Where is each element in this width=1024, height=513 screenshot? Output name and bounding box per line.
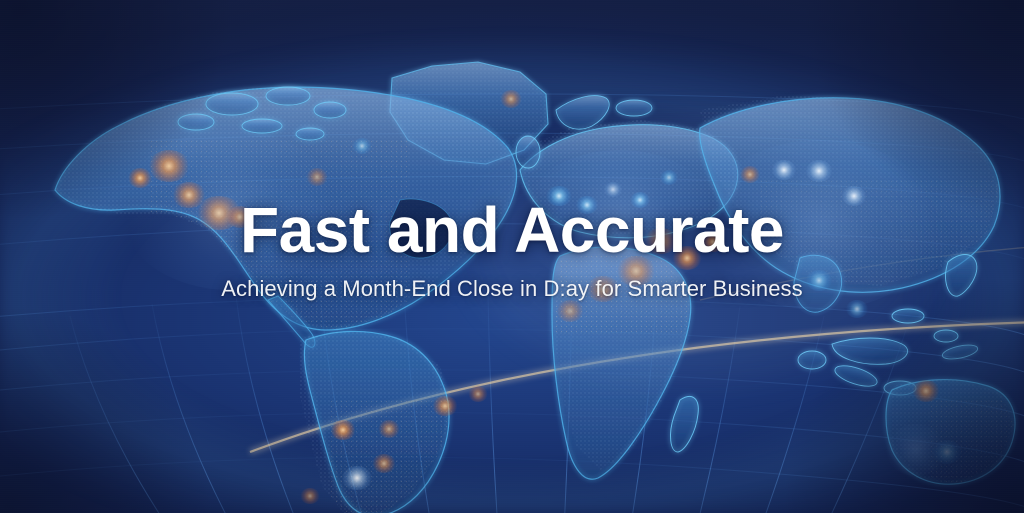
hero-banner: Fast and Accurate Achieving a Month-End … <box>0 0 1024 513</box>
hero-text-block: Fast and Accurate Achieving a Month-End … <box>0 198 1024 303</box>
region-australia <box>880 342 1024 500</box>
page-title: Fast and Accurate <box>0 198 1024 263</box>
page-subtitle: Achieving a Month-End Close in D:ay for … <box>0 275 1024 303</box>
region-south-america <box>290 320 480 513</box>
